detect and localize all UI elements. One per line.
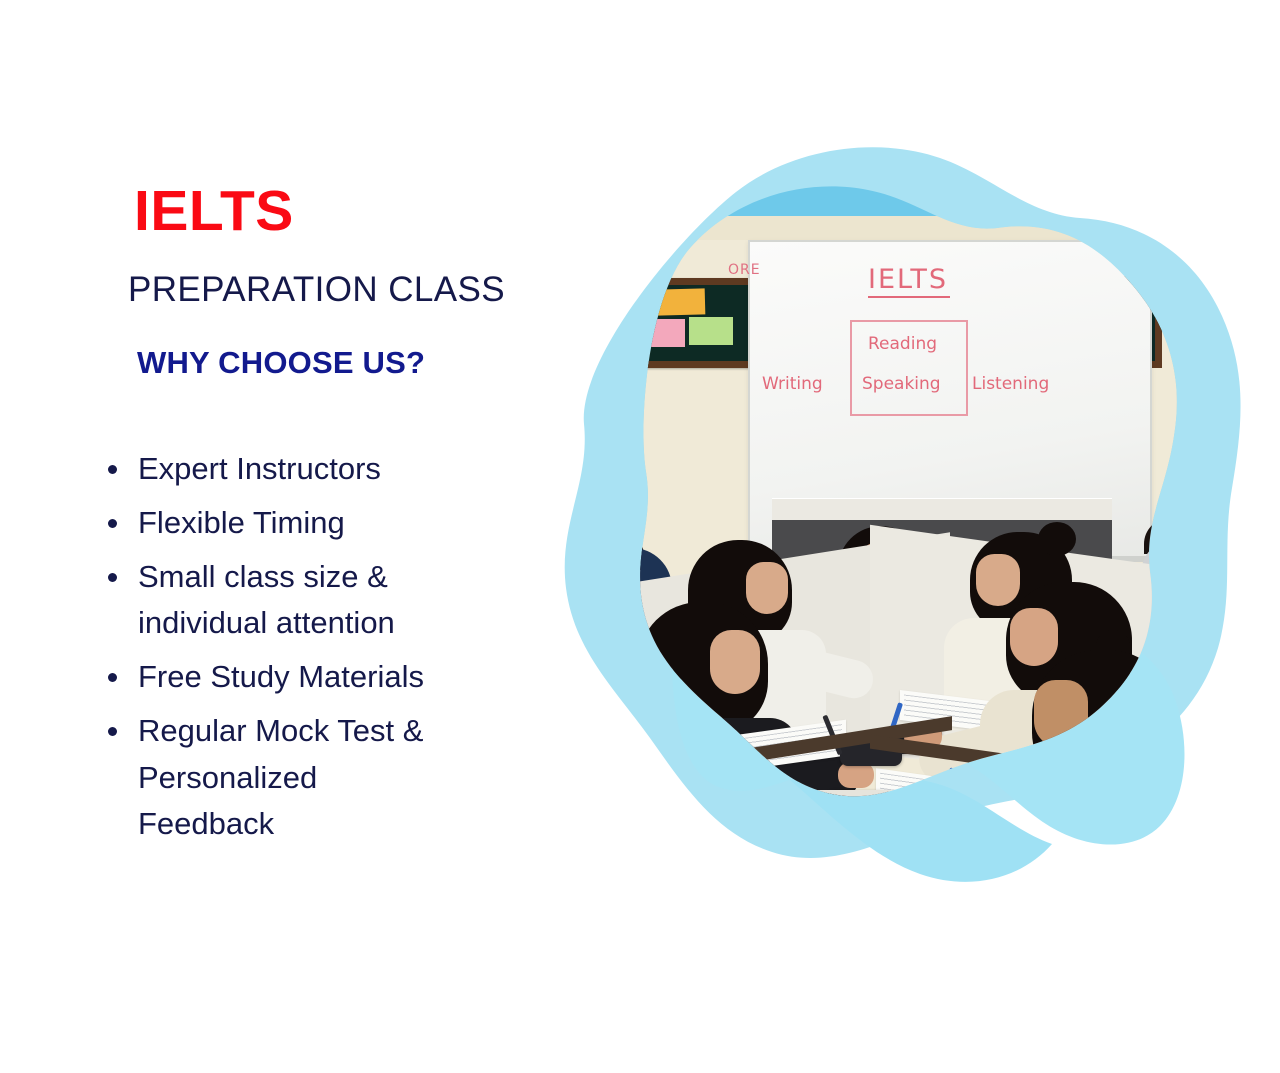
benefit-line-continued: Personalized — [138, 761, 540, 795]
whiteboard-skill-listening: Listening — [972, 374, 1049, 394]
page-title-brand: IELTS — [134, 183, 294, 240]
whiteboard-box-line — [850, 320, 968, 322]
student-hair-bun — [1038, 522, 1076, 556]
bullet-icon — [108, 727, 117, 736]
benefit-line: Free Study Materials — [138, 659, 424, 694]
whiteboard-partial-text: ORE — [728, 262, 761, 278]
benefit-line-continued: individual attention — [138, 606, 540, 640]
benefit-line: Expert Instructors — [138, 451, 381, 486]
list-item: Regular Mock Test & Personalized Feedbac… — [100, 714, 540, 840]
whiteboard-skill-reading: Reading — [868, 334, 937, 354]
classroom-artwork: ORE IELTS Reading Speaking Writing Liste… — [540, 130, 1260, 960]
benefit-line: Regular Mock Test & — [138, 713, 423, 748]
whiteboard-skill-speaking: Speaking — [862, 374, 941, 394]
whiteboard-box-line — [850, 414, 968, 416]
list-item: Expert Instructors — [100, 452, 540, 486]
bullet-icon — [108, 465, 117, 474]
list-item: Free Study Materials — [100, 660, 540, 694]
student-face — [1010, 608, 1058, 666]
teacher-desk-top — [772, 498, 1112, 521]
text-column: IELTS PREPARATION CLASS WHY CHOOSE US? E… — [0, 0, 560, 1073]
poster-canvas: IELTS PREPARATION CLASS WHY CHOOSE US? E… — [0, 0, 1280, 1073]
whiteboard-skill-writing: Writing — [762, 374, 823, 394]
whiteboard-title-underline — [868, 296, 950, 298]
student-face — [710, 630, 760, 694]
benefit-line: Small class size & — [138, 559, 388, 594]
benefit-line: Flexible Timing — [138, 505, 345, 540]
page-subtitle: PREPARATION CLASS — [128, 272, 505, 307]
list-item: Small class size & individual attention — [100, 560, 540, 640]
student-face — [976, 554, 1020, 606]
whiteboard-title: IELTS — [868, 264, 948, 295]
whiteboard-box-line — [966, 320, 968, 416]
bullet-icon — [108, 573, 117, 582]
whiteboard-box-line — [850, 320, 852, 416]
section-heading-why-choose-us: WHY CHOOSE US? — [137, 347, 425, 378]
bullet-icon — [108, 673, 117, 682]
student-face — [746, 562, 788, 614]
list-item: Flexible Timing — [100, 506, 540, 540]
bullet-icon — [108, 519, 117, 528]
benefits-list: Expert Instructors Flexible Timing Small… — [100, 452, 540, 861]
sticky-note-green — [689, 317, 733, 345]
benefit-line-continued-2: Feedback — [138, 807, 540, 841]
